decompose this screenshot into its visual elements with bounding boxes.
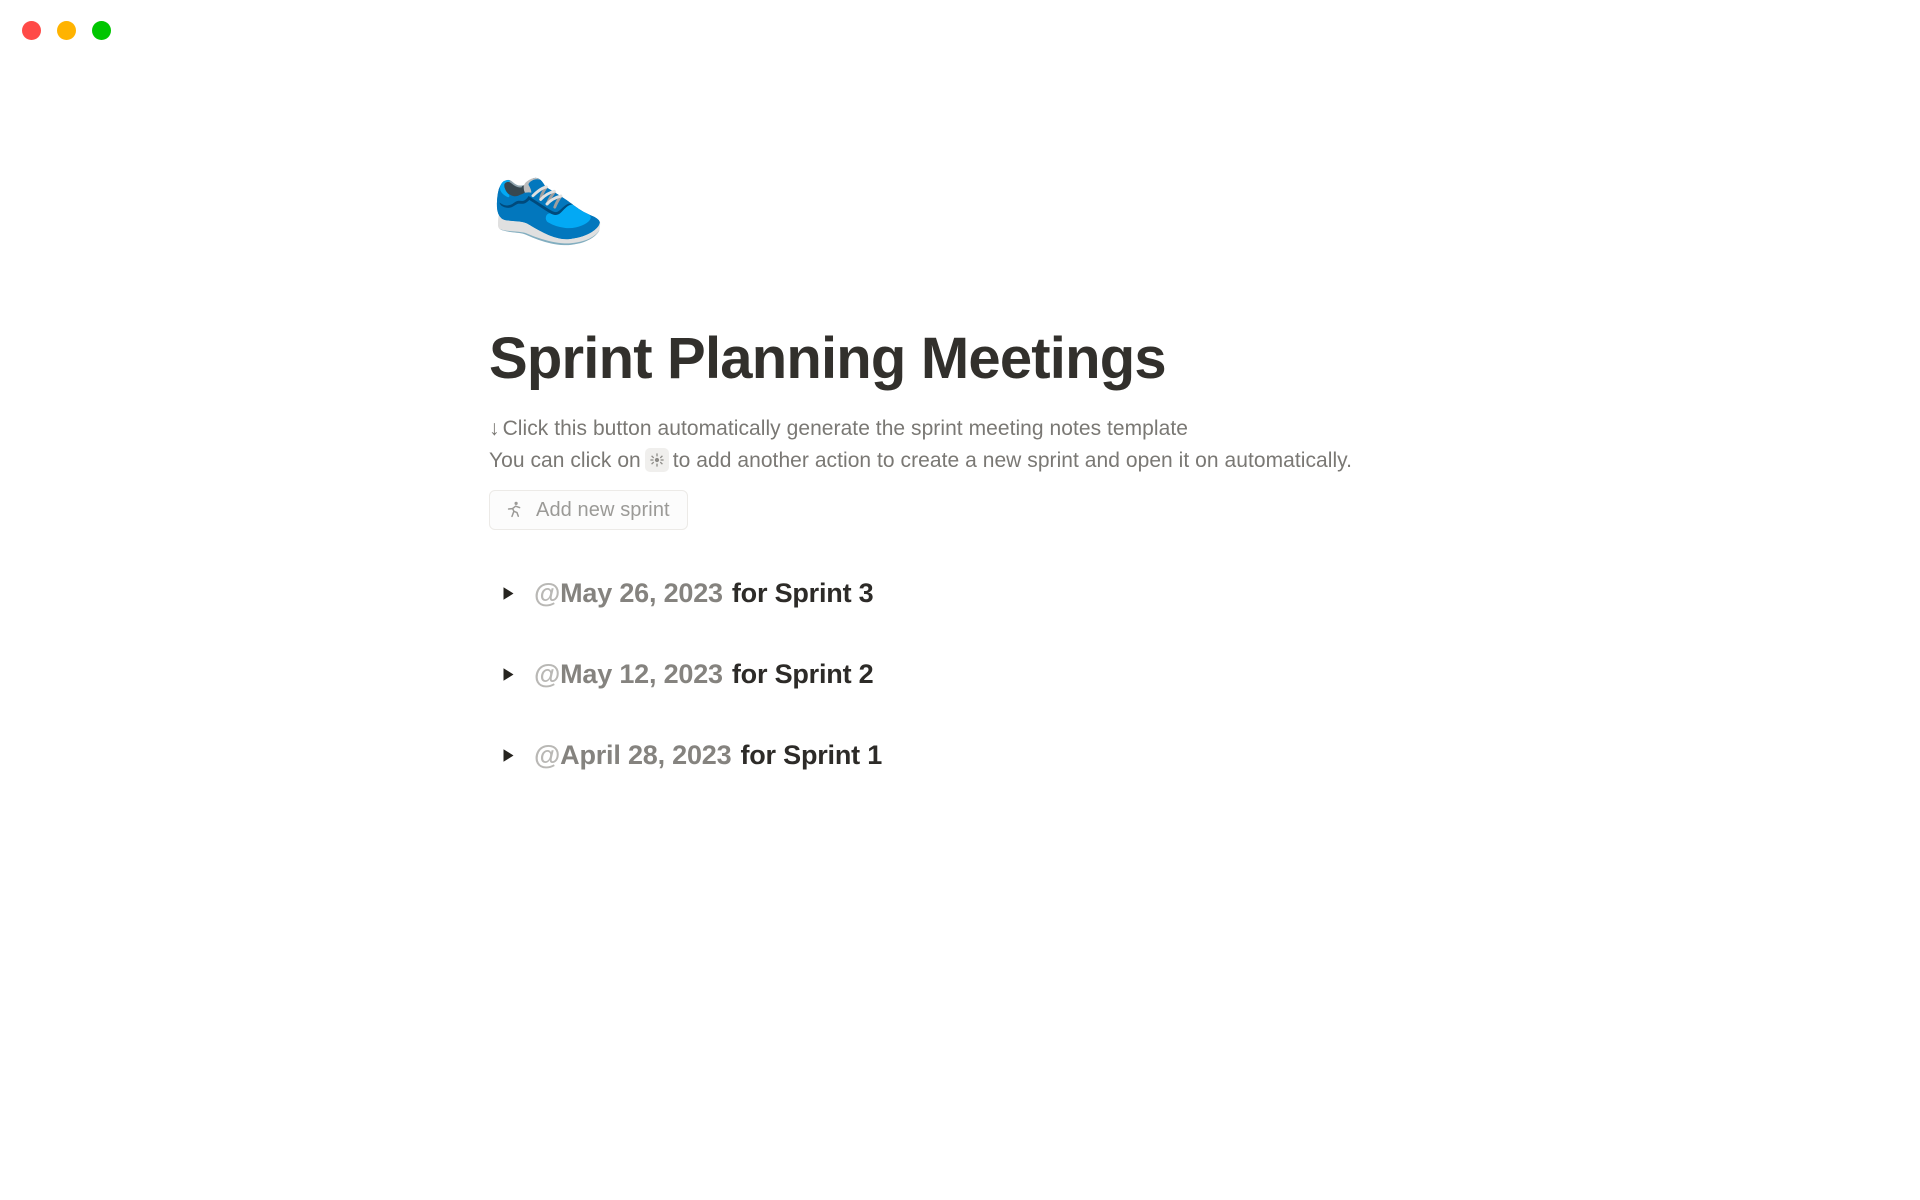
description-line-2[interactable]: You can click onto add another action to… bbox=[489, 445, 1589, 477]
chevron-right-icon[interactable] bbox=[489, 748, 519, 763]
toggle-row[interactable]: @April 28, 2023for Sprint 1 bbox=[489, 736, 1589, 776]
page-title[interactable]: Sprint Planning Meetings bbox=[489, 328, 1589, 391]
mention-date[interactable]: May 12, 2023 bbox=[560, 659, 723, 689]
running-person-icon bbox=[504, 500, 524, 520]
toggle-suffix: for Sprint 1 bbox=[740, 740, 882, 770]
description-line-1-text: Click this button automatically generate… bbox=[503, 417, 1188, 440]
mention-at-symbol: @ bbox=[534, 578, 560, 608]
toggle-suffix: for Sprint 2 bbox=[732, 659, 874, 689]
sprint-toggle-list: @May 26, 2023for Sprint 3 @May 12, 2023f… bbox=[489, 574, 1589, 776]
mention-at-symbol: @ bbox=[534, 740, 560, 770]
description-line-2-suffix: to add another action to create a new sp… bbox=[673, 449, 1352, 472]
mention-date[interactable]: April 28, 2023 bbox=[560, 740, 731, 770]
mention-date[interactable]: May 26, 2023 bbox=[560, 578, 723, 608]
chevron-right-icon[interactable] bbox=[489, 667, 519, 682]
chevron-right-icon[interactable] bbox=[489, 586, 519, 601]
toggle-row[interactable]: @May 12, 2023for Sprint 2 bbox=[489, 655, 1589, 695]
page-content-column: 👟 Sprint Planning Meetings ↓Click this b… bbox=[489, 148, 1589, 817]
page-description: ↓Click this button automatically generat… bbox=[489, 413, 1589, 477]
gear-icon[interactable] bbox=[645, 448, 669, 472]
toggle-row[interactable]: @May 26, 2023for Sprint 3 bbox=[489, 574, 1589, 614]
mention-at-symbol: @ bbox=[534, 659, 560, 689]
arrow-down-icon: ↓ bbox=[489, 417, 500, 440]
running-shoe-icon[interactable]: 👟 bbox=[490, 148, 1589, 266]
description-line-2-prefix: You can click on bbox=[489, 449, 641, 472]
add-new-sprint-label: Add new sprint bbox=[536, 500, 670, 520]
toggle-label: @May 12, 2023for Sprint 2 bbox=[534, 658, 873, 692]
description-line-1[interactable]: ↓Click this button automatically generat… bbox=[489, 413, 1589, 445]
toggle-label: @May 26, 2023for Sprint 3 bbox=[534, 577, 873, 611]
notion-page: 👟 Sprint Planning Meetings ↓Click this b… bbox=[0, 0, 1920, 1200]
toggle-label: @April 28, 2023for Sprint 1 bbox=[534, 739, 882, 773]
toggle-suffix: for Sprint 3 bbox=[732, 578, 874, 608]
add-new-sprint-button[interactable]: Add new sprint bbox=[489, 490, 688, 530]
